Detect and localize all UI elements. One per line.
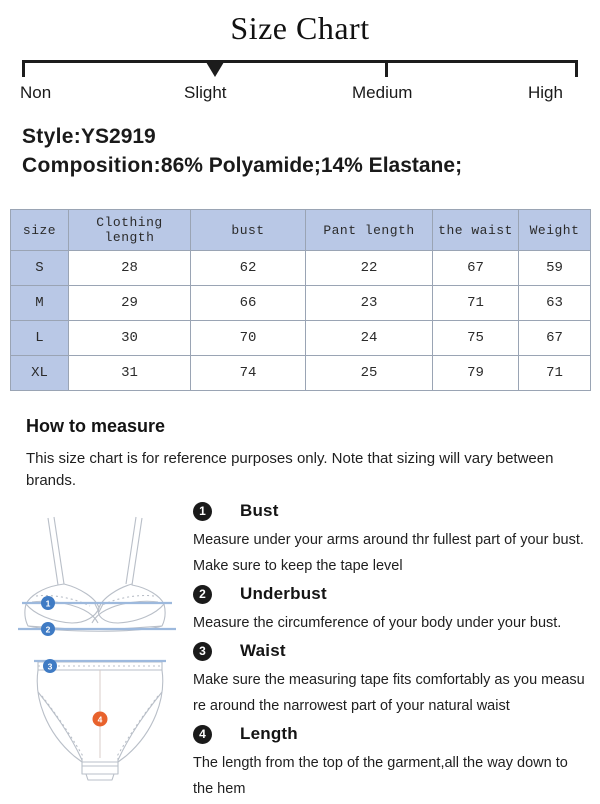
table-row: S 28 62 22 67 59 [11, 251, 591, 286]
cell-weight: 71 [519, 356, 591, 391]
cell-size: XL [11, 356, 69, 391]
step-number-1: 1 [193, 502, 212, 521]
table-row: M 29 66 23 71 63 [11, 286, 591, 321]
scale-tick-medium [385, 60, 388, 77]
cell-weight: 59 [519, 251, 591, 286]
product-meta: Style:YS2919 Composition:86% Polyamide;1… [22, 122, 582, 180]
table-row: XL 31 74 25 79 71 [11, 356, 591, 391]
step-label-waist: Waist [240, 641, 286, 661]
col-header-pant-length: Pant length [306, 210, 433, 251]
composition-value: 86% Polyamide;14% Elastane; [161, 154, 462, 177]
svg-text:2: 2 [46, 625, 51, 635]
scale-tick-right [575, 60, 578, 77]
measurement-steps: 1 Bust Measure under your arms around th… [193, 498, 587, 804]
step-desc-bust-line1: Measure under your arms around thr fulle… [193, 527, 587, 553]
table-row: L 30 70 24 75 67 [11, 321, 591, 356]
scale-tick-left [22, 60, 25, 77]
step-number-2: 2 [193, 585, 212, 604]
cell-bust: 74 [191, 356, 306, 391]
cell-clothing-length: 30 [69, 321, 191, 356]
col-header-clothing-length: Clothing length [69, 210, 191, 251]
col-header-bust: bust [191, 210, 306, 251]
step-label-bust: Bust [240, 501, 279, 521]
table-header-row: size Clothing length bust Pant length th… [11, 210, 591, 251]
step-bust: 1 Bust Measure under your arms around th… [193, 498, 587, 579]
cell-pant-length: 23 [306, 286, 433, 321]
step-label-length: Length [240, 724, 298, 744]
bra-marker-2: 2 [41, 622, 55, 636]
cell-the-waist: 71 [433, 286, 519, 321]
cell-weight: 63 [519, 286, 591, 321]
step-desc-bust-line2: Make sure to keep the tape level [193, 553, 587, 579]
cell-pant-length: 25 [306, 356, 433, 391]
scale-marker-triangle-icon [206, 62, 224, 77]
stretch-scale: Non Slight Medium High [22, 60, 578, 110]
step-desc-length-line1: The length from the top of the garment,a… [193, 750, 587, 776]
style-line: Style:YS2919 [22, 122, 582, 151]
scale-line [22, 60, 578, 63]
garment-illustrations: 1 2 3 [12, 492, 188, 792]
scale-label-medium: Medium [352, 82, 412, 104]
svg-text:1: 1 [46, 599, 51, 609]
cell-the-waist: 75 [433, 321, 519, 356]
bra-marker-1: 1 [41, 596, 55, 610]
step-underbust: 2 Underbust Measure the circumference of… [193, 581, 587, 636]
cell-clothing-length: 31 [69, 356, 191, 391]
scale-label-high: High [528, 82, 563, 104]
cell-size: L [11, 321, 69, 356]
cell-clothing-length: 29 [69, 286, 191, 321]
composition-label: Composition: [22, 154, 161, 177]
cell-weight: 67 [519, 321, 591, 356]
composition-line: Composition:86% Polyamide;14% Elastane; [22, 151, 582, 180]
svg-text:3: 3 [48, 662, 53, 672]
step-length: 4 Length The length from the top of the … [193, 721, 587, 802]
page-title: Size Chart [0, 8, 600, 48]
size-table: size Clothing length bust Pant length th… [10, 209, 591, 391]
step-desc-underbust-line1: Measure the circumference of your body u… [193, 610, 587, 636]
cell-the-waist: 79 [433, 356, 519, 391]
step-waist: 3 Waist Make sure the measuring tape fit… [193, 638, 587, 719]
svg-text:4: 4 [98, 715, 103, 725]
style-value: YS2919 [81, 125, 156, 148]
cell-pant-length: 22 [306, 251, 433, 286]
step-number-4: 4 [193, 725, 212, 744]
scale-label-non: Non [20, 82, 51, 104]
bra-diagram: 1 2 [12, 492, 188, 642]
panty-diagram: 3 4 [12, 640, 188, 790]
cell-bust: 70 [191, 321, 306, 356]
cell-size: S [11, 251, 69, 286]
how-to-measure-title: How to measure [26, 414, 165, 438]
scale-label-slight: Slight [184, 82, 227, 104]
step-number-3: 3 [193, 642, 212, 661]
style-label: Style: [22, 125, 81, 148]
cell-bust: 66 [191, 286, 306, 321]
cell-the-waist: 67 [433, 251, 519, 286]
panty-marker-4: 4 [93, 712, 108, 727]
col-header-weight: Weight [519, 210, 591, 251]
col-header-the-waist: the waist [433, 210, 519, 251]
panty-marker-3: 3 [43, 659, 57, 673]
cell-size: M [11, 286, 69, 321]
step-desc-waist-line1: Make sure the measuring tape fits comfor… [193, 667, 587, 693]
step-desc-length-line2: the hem [193, 776, 587, 802]
cell-pant-length: 24 [306, 321, 433, 356]
step-label-underbust: Underbust [240, 584, 327, 604]
step-desc-waist-line2: re around the narrowest part of your nat… [193, 693, 587, 719]
how-to-measure-note: This size chart is for reference purpose… [26, 448, 582, 492]
cell-bust: 62 [191, 251, 306, 286]
cell-clothing-length: 28 [69, 251, 191, 286]
col-header-size: size [11, 210, 69, 251]
